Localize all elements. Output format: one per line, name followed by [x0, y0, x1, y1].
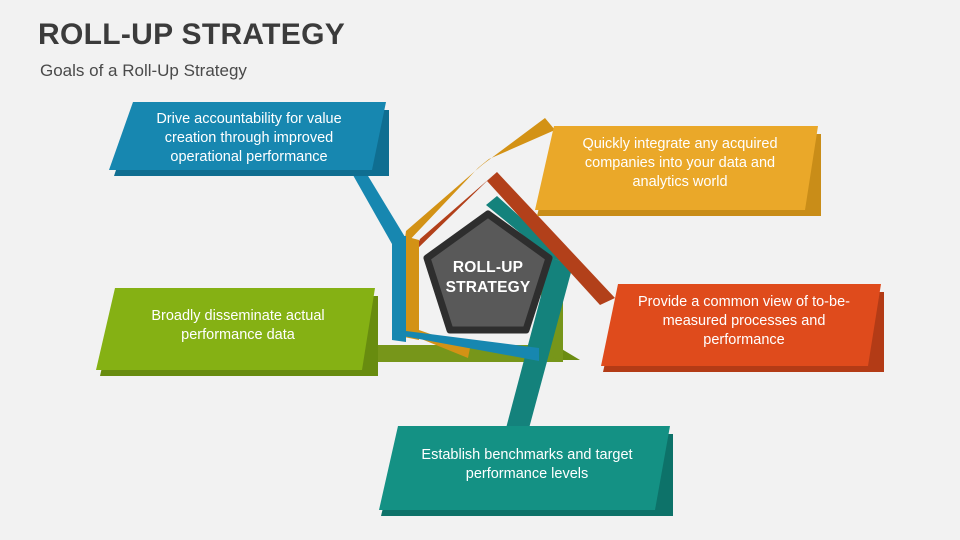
slide-canvas: ROLL-UP STRATEGY Goals of a Roll-Up Stra…	[0, 0, 960, 540]
node-quickly-integrate[interactable]	[535, 126, 821, 216]
node-establish-benchmarks[interactable]	[379, 426, 673, 516]
node-common-view[interactable]	[601, 284, 884, 372]
roll-up-strategy-diagram	[0, 0, 960, 540]
node-drive-accountability[interactable]	[109, 102, 389, 176]
node-broadly-disseminate[interactable]	[96, 288, 378, 376]
